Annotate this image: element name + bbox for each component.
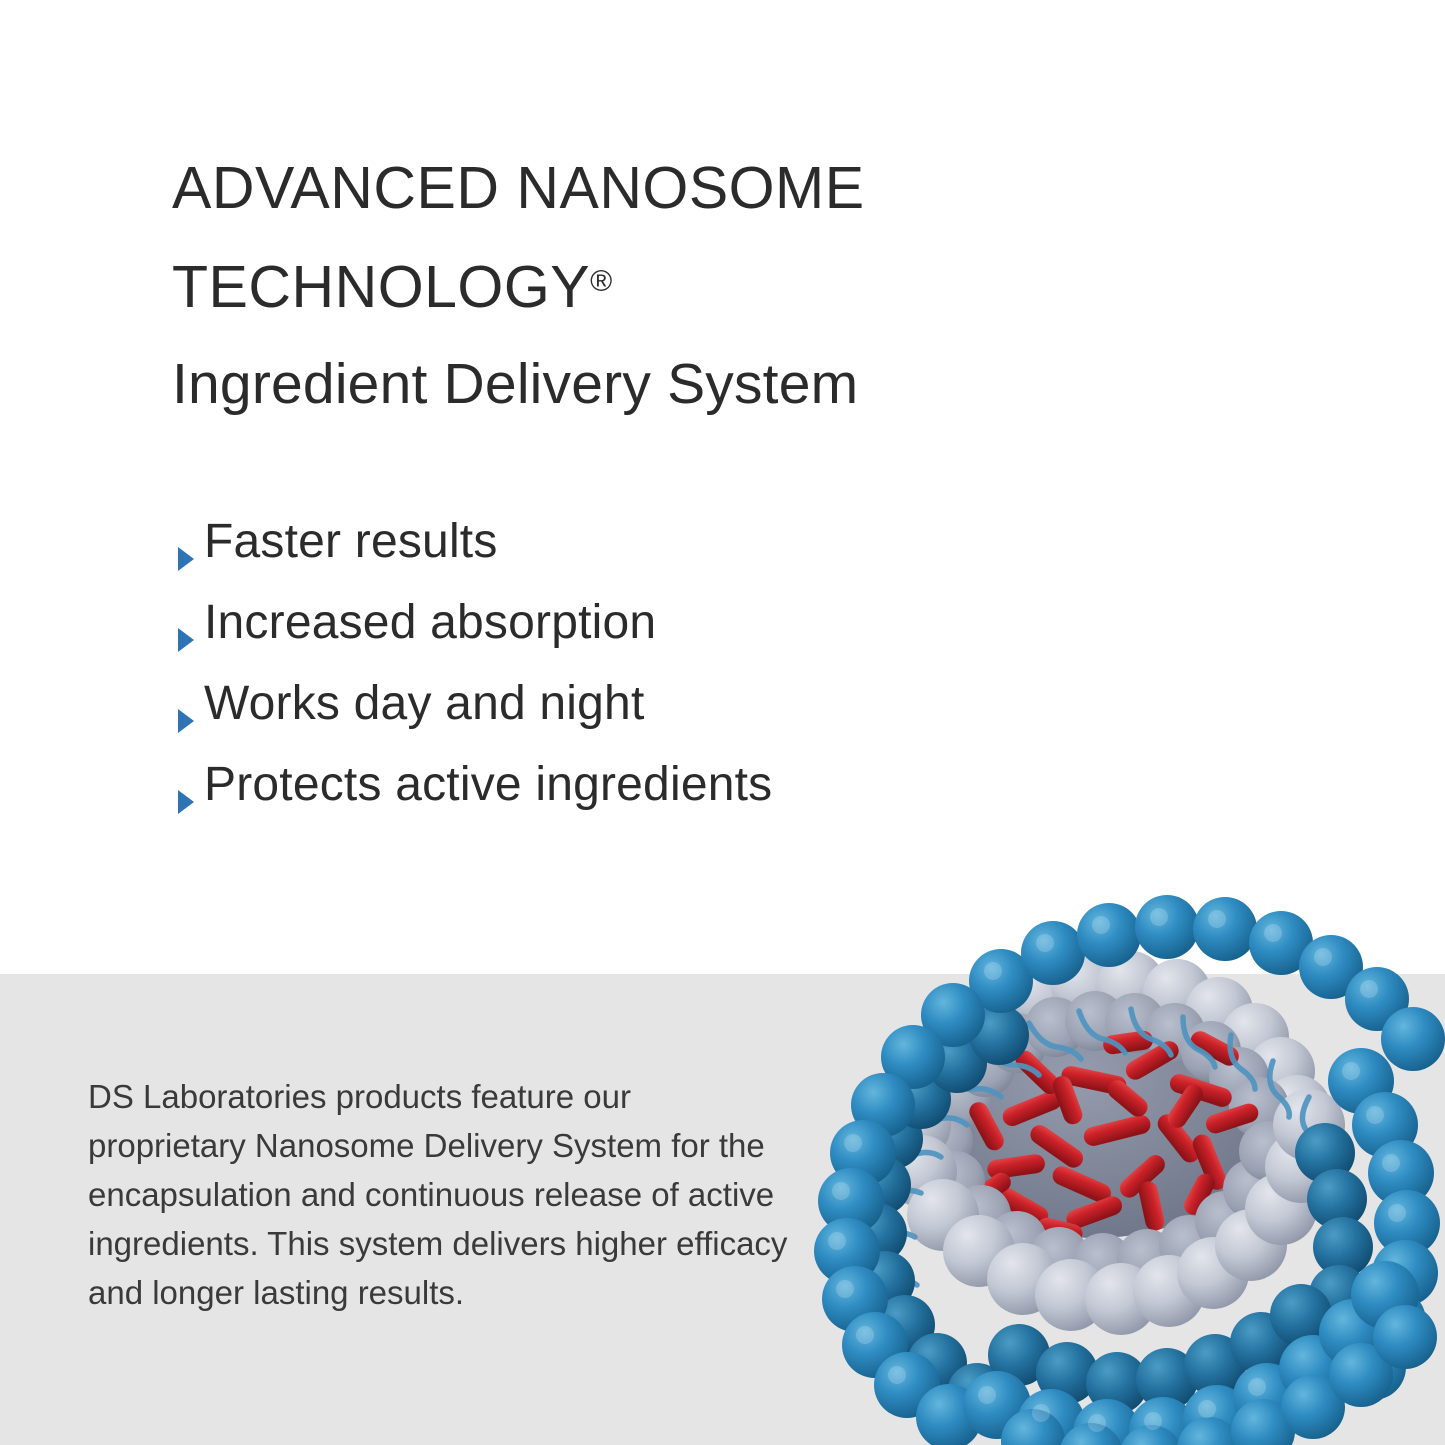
description-paragraph: DS Laboratories products feature our pro… — [88, 1072, 788, 1317]
benefit-label: Faster results — [204, 518, 498, 566]
list-item: Works day and night — [172, 680, 1122, 761]
headline-block: ADVANCED NANOSOMETECHNOLOGY® Ingredient … — [172, 142, 1072, 428]
title-line-1: ADVANCED NANOSOME — [172, 155, 865, 221]
list-item: Faster results — [172, 518, 1122, 599]
page-title: ADVANCED NANOSOMETECHNOLOGY® — [172, 142, 1072, 334]
title-line-2: TECHNOLOGY — [172, 254, 590, 320]
benefit-label: Works day and night — [204, 680, 645, 728]
list-item: Protects active ingredients — [172, 761, 1122, 842]
benefit-label: Protects active ingredients — [204, 761, 772, 809]
list-item: Increased absorption — [172, 599, 1122, 680]
benefit-label: Increased absorption — [204, 599, 656, 647]
slide-canvas: ADVANCED NANOSOMETECHNOLOGY® Ingredient … — [0, 0, 1445, 1445]
registered-trademark-icon: ® — [590, 265, 612, 298]
page-subtitle: Ingredient Delivery System — [172, 334, 1072, 428]
benefits-list: Faster results Increased absorption Work… — [172, 518, 1122, 842]
